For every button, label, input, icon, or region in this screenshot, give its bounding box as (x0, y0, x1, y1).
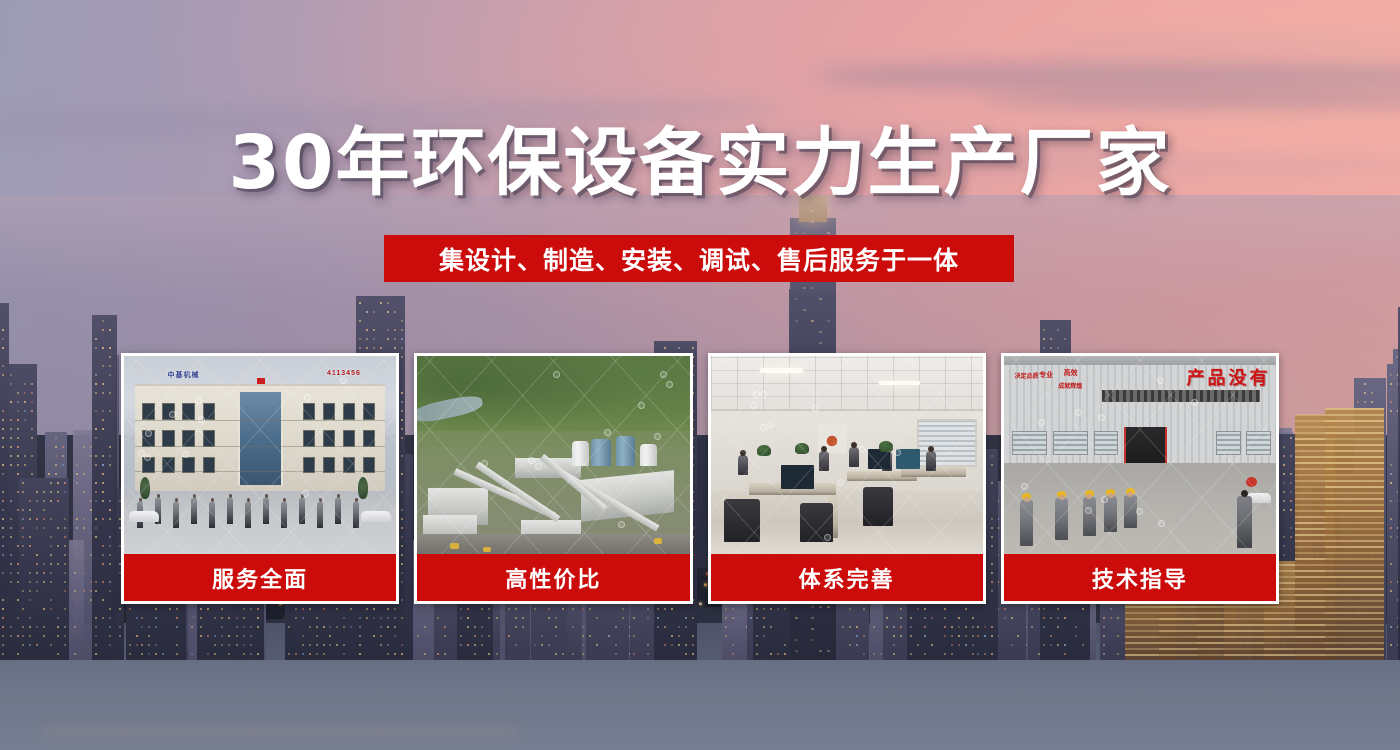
building-window-light (380, 644, 382, 646)
building-window-light (2, 491, 4, 493)
building-window-light (302, 635, 304, 637)
building-window-light (95, 482, 97, 484)
building-window-light (555, 653, 557, 655)
building-window-light (119, 608, 121, 610)
building-window-light (10, 554, 12, 556)
building-window-light (1290, 455, 1292, 457)
building-window-light (633, 635, 635, 637)
building-window-light (2, 626, 4, 628)
building-window-light (109, 509, 111, 511)
building-window-light (1004, 608, 1006, 610)
building-window-light (534, 608, 536, 610)
building-window-light (343, 653, 345, 655)
building-window-light (842, 626, 844, 628)
building-window-light (924, 617, 926, 619)
building-window-light (24, 383, 26, 385)
building-window-light (725, 626, 727, 628)
building-window-light (437, 653, 439, 655)
building-window-light (596, 644, 598, 646)
building-window-light (394, 626, 396, 628)
building-window-light (55, 473, 57, 475)
building-window-light (17, 392, 19, 394)
building-window-light (22, 518, 24, 520)
building-window-light (893, 635, 895, 637)
building-window-light (50, 482, 52, 484)
building-window-light (1057, 626, 1059, 628)
building-window-light (83, 446, 85, 448)
building-window-light (316, 617, 318, 619)
building-window-light (36, 563, 38, 565)
building-window-light (615, 653, 617, 655)
building-window-light (55, 455, 57, 457)
tower-window-light (811, 628, 814, 630)
building-window-light (22, 509, 24, 511)
building-window-light (221, 644, 223, 646)
building-window-light (10, 383, 12, 385)
building-window-light (176, 626, 178, 628)
building-window-light (10, 563, 12, 565)
building-window-light (380, 302, 382, 304)
building-window-light (1290, 437, 1292, 439)
building-window-light (102, 464, 104, 466)
building-window-light (243, 635, 245, 637)
building-window-light (1117, 635, 1119, 637)
building-window-light (1050, 644, 1052, 646)
building-window-light (387, 302, 389, 304)
building-window-light (64, 590, 66, 592)
building-window-light (944, 617, 946, 619)
building-window-light (57, 545, 59, 547)
building-window-light (36, 644, 38, 646)
building-window-light (74, 590, 76, 592)
building-window-light (863, 653, 865, 655)
building-window-light (474, 644, 476, 646)
building-window-light (95, 383, 97, 385)
building-window-light (1011, 644, 1013, 646)
tower-window-light (827, 232, 830, 234)
building-window-light (329, 644, 331, 646)
building-window-light (10, 500, 12, 502)
building-window-light (76, 527, 78, 529)
building-window-light (350, 626, 352, 628)
building-window-light (243, 653, 245, 655)
building-window-light (401, 653, 403, 655)
building-window-light (474, 635, 476, 637)
building-window-light (50, 491, 52, 493)
building-window-light (1050, 338, 1052, 340)
building-window-light (1290, 482, 1292, 484)
building-window-light (460, 635, 462, 637)
building-window-light (924, 653, 926, 655)
building-window-light (849, 644, 851, 646)
building-window-light (467, 626, 469, 628)
building-window-light (387, 608, 389, 610)
building-window-light (2, 410, 4, 412)
building-window-light (515, 644, 517, 646)
tower-window-light (819, 298, 822, 300)
building-window-light (488, 635, 490, 637)
building-window-light (1050, 347, 1052, 349)
building-window-light (250, 644, 252, 646)
building-window-light (155, 644, 157, 646)
cloud-band (1036, 35, 1400, 49)
building-window-light (36, 554, 38, 556)
tower-window-light (795, 298, 798, 300)
building-window-light (951, 626, 953, 628)
building-window-light (958, 626, 960, 628)
building-window-light (17, 437, 19, 439)
building-window-light (359, 302, 361, 304)
building-window-light (50, 599, 52, 601)
building-window-light (57, 626, 59, 628)
building-window-light (671, 608, 673, 610)
building-window-light (2, 545, 4, 547)
building-window-light (257, 608, 259, 610)
building-window-light (10, 455, 12, 457)
building-window-light (2, 347, 4, 349)
building-window-light (373, 617, 375, 619)
building-window-light (64, 581, 66, 583)
building-window-light (10, 374, 12, 376)
building-window-light (1043, 644, 1045, 646)
building-window-light (1103, 635, 1105, 637)
building-window-light (1103, 626, 1105, 628)
building-window-light (678, 347, 680, 349)
building-window-light (95, 590, 97, 592)
building-window-light (257, 626, 259, 628)
building-window-light (647, 617, 649, 619)
building-window-light (965, 608, 967, 610)
building-window-light (109, 644, 111, 646)
building-window-light (1038, 608, 1040, 610)
building-window-light (886, 617, 888, 619)
building-window-light (64, 635, 66, 637)
building-window-light (910, 626, 912, 628)
building-window-light (893, 626, 895, 628)
building-window-light (1390, 482, 1392, 484)
building-window-light (522, 626, 524, 628)
building-window-light (488, 608, 490, 610)
building-window-light (1390, 464, 1392, 466)
building-window-light (777, 608, 779, 610)
building-window-light (1057, 329, 1059, 331)
building-window-light (467, 644, 469, 646)
building-window-light (1082, 608, 1084, 610)
building-window-light (36, 527, 38, 529)
building-window-light (1390, 401, 1392, 403)
building-window-light (336, 608, 338, 610)
building-window-light (488, 617, 490, 619)
building-window-light (359, 626, 361, 628)
building-window-light (95, 455, 97, 457)
building-window-light (572, 608, 574, 610)
building-window-light (366, 347, 368, 349)
building-window-light (784, 653, 786, 655)
building-window-light (685, 644, 687, 646)
building-window-light (615, 644, 617, 646)
building-window-light (109, 626, 111, 628)
building-window-light (102, 554, 104, 556)
building-window-light (200, 608, 202, 610)
building-window-light (615, 626, 617, 628)
building-window-light (1390, 581, 1392, 583)
building-window-light (22, 644, 24, 646)
building-window-light (10, 572, 12, 574)
building-window-light (17, 464, 19, 466)
building-window-light (2, 527, 4, 529)
building-window-light (1283, 500, 1285, 502)
building-window-light (474, 626, 476, 628)
building-window-light (873, 653, 875, 655)
building-window-light (95, 518, 97, 520)
building-window-light (43, 518, 45, 520)
building-window-light (1038, 653, 1040, 655)
building-window-light (141, 626, 143, 628)
building-window-light (548, 617, 550, 619)
building-window-light (155, 608, 157, 610)
building-window-light (64, 554, 66, 556)
building-window-light (43, 500, 45, 502)
building-window-light (243, 644, 245, 646)
building-window-light (460, 617, 462, 619)
building-window-light (236, 635, 238, 637)
building-window-light (214, 635, 216, 637)
building-window-light (109, 446, 111, 448)
building-window-light (1283, 509, 1285, 511)
building-window-light (31, 455, 33, 457)
building-window-light (1103, 617, 1105, 619)
building-window-light (1283, 455, 1285, 457)
building-window-light (336, 644, 338, 646)
building-window-light (50, 536, 52, 538)
building-window-light (148, 653, 150, 655)
building-window-light (17, 455, 19, 457)
tower-window-light (795, 617, 798, 619)
building-window-light (1050, 635, 1052, 637)
building-window-light (2, 338, 4, 340)
building-window-light (22, 590, 24, 592)
building-window-light (36, 518, 38, 520)
building-window-light (109, 374, 111, 376)
building-window-light (522, 617, 524, 619)
building-window-light (31, 383, 33, 385)
building-window-light (302, 653, 304, 655)
building-window-light (678, 626, 680, 628)
building-window-light (22, 491, 24, 493)
building-window-light (29, 626, 31, 628)
building-window-light (1043, 338, 1045, 340)
building-window-light (1057, 347, 1059, 349)
building-window-light (228, 653, 230, 655)
building-window-light (29, 635, 31, 637)
building-window-light (74, 653, 76, 655)
building-window-light (972, 617, 974, 619)
building-window-light (366, 329, 368, 331)
building-window-light (250, 626, 252, 628)
building-window-light (849, 608, 851, 610)
building-window-light (95, 653, 97, 655)
building-window-light (1290, 473, 1292, 475)
building-window-light (288, 653, 290, 655)
building-window-light (496, 617, 498, 619)
building-window-light (910, 617, 912, 619)
building-window-light (50, 644, 52, 646)
building-window-light (863, 635, 865, 637)
building-window-light (22, 527, 24, 529)
building-window-light (1043, 347, 1045, 349)
building-window-light (302, 617, 304, 619)
building-window-light (910, 635, 912, 637)
building-window-light (856, 626, 858, 628)
building-window-light (214, 617, 216, 619)
building-window-light (176, 653, 178, 655)
building-window-light (900, 608, 902, 610)
building-window-light (162, 653, 164, 655)
building-window-light (95, 464, 97, 466)
building-window-light (481, 626, 483, 628)
building-window-light (129, 608, 131, 610)
illuminated-building (1325, 408, 1384, 660)
tower-window-light (819, 606, 822, 608)
tower-window-light (795, 210, 798, 212)
building-window-light (95, 338, 97, 340)
building-window-light (95, 500, 97, 502)
building-window-light (394, 338, 396, 340)
building-window-light (444, 653, 446, 655)
building-window-light (481, 644, 483, 646)
building-window-light (200, 626, 202, 628)
building-window-light (1017, 635, 1019, 637)
building-window-light (76, 482, 78, 484)
building-window-light (756, 608, 758, 610)
building-window-light (1283, 554, 1285, 556)
building-window-light (302, 608, 304, 610)
building-window-light (302, 644, 304, 646)
building-window-light (460, 644, 462, 646)
building-window-light (200, 617, 202, 619)
building-window-light (387, 626, 389, 628)
building-window-light (692, 644, 694, 646)
building-window-light (1031, 608, 1033, 610)
building-window-light (24, 464, 26, 466)
building-window-light (763, 617, 765, 619)
building-window-light (295, 608, 297, 610)
building-window-light (323, 626, 325, 628)
building-window-light (756, 644, 758, 646)
building-window-light (725, 608, 727, 610)
building-window-light (647, 608, 649, 610)
building-window-light (692, 617, 694, 619)
building-window-light (309, 626, 311, 628)
building-window-light (2, 599, 4, 601)
building-window-light (316, 653, 318, 655)
building-window-light (1283, 446, 1285, 448)
building-window-light (555, 617, 557, 619)
building-window-light (1357, 401, 1359, 403)
building-window-light (22, 482, 24, 484)
building-window-light (29, 644, 31, 646)
building-window-light (191, 626, 193, 628)
building-window-light (10, 635, 12, 637)
tower-window-light (811, 287, 814, 289)
building-window-light (95, 347, 97, 349)
building-window-light (924, 608, 926, 610)
building-window-light (57, 500, 59, 502)
building-window-light (109, 536, 111, 538)
building-window-light (732, 617, 734, 619)
building-window-light (309, 608, 311, 610)
building-window-light (228, 644, 230, 646)
building-window-light (83, 473, 85, 475)
building-window-light (102, 500, 104, 502)
building-window-light (856, 635, 858, 637)
building-window-light (596, 617, 598, 619)
building-window-light (31, 401, 33, 403)
building-window-light (83, 527, 85, 529)
building-window-light (102, 599, 104, 601)
building-window-light (380, 617, 382, 619)
building-window-light (36, 491, 38, 493)
building-window-light (10, 581, 12, 583)
tower-window-light (811, 617, 814, 619)
building-window-light (893, 644, 895, 646)
building-window-light (57, 563, 59, 565)
building-window-light (109, 581, 111, 583)
building-window-light (50, 608, 52, 610)
building-window-light (394, 617, 396, 619)
building-window-light (22, 635, 24, 637)
building-window-light (309, 653, 311, 655)
tower-window-light (795, 320, 798, 322)
building-window-light (401, 320, 403, 322)
building-window-light (2, 644, 4, 646)
building-window-light (387, 617, 389, 619)
building-window-light (562, 608, 564, 610)
building-window-light (29, 581, 31, 583)
building-window-light (29, 617, 31, 619)
building-window-light (102, 383, 104, 385)
building-window-light (207, 635, 209, 637)
building-window-light (1390, 374, 1392, 376)
tower-window-light (819, 650, 822, 652)
building-window-light (359, 320, 361, 322)
building-window-light (1283, 473, 1285, 475)
building-window-light (893, 653, 895, 655)
building-window-light (496, 653, 498, 655)
building-window-light (50, 554, 52, 556)
building-window-light (756, 617, 758, 619)
building-window-light (50, 518, 52, 520)
building-window-light (481, 608, 483, 610)
building-window-light (984, 626, 986, 628)
building-window-light (243, 617, 245, 619)
building-window-light (359, 644, 361, 646)
building-window-light (10, 518, 12, 520)
building-window-light (109, 392, 111, 394)
building-window-light (29, 545, 31, 547)
tower-window-light (811, 210, 814, 212)
building-window-light (394, 311, 396, 313)
building-window-light (1290, 536, 1292, 538)
building-window-light (394, 347, 396, 349)
building-window-light (515, 608, 517, 610)
building-window-light (43, 491, 45, 493)
tower-window-light (795, 232, 798, 234)
building-window-light (29, 518, 31, 520)
building-window-light (10, 437, 12, 439)
building-window-light (1290, 500, 1292, 502)
building-window-light (777, 653, 779, 655)
